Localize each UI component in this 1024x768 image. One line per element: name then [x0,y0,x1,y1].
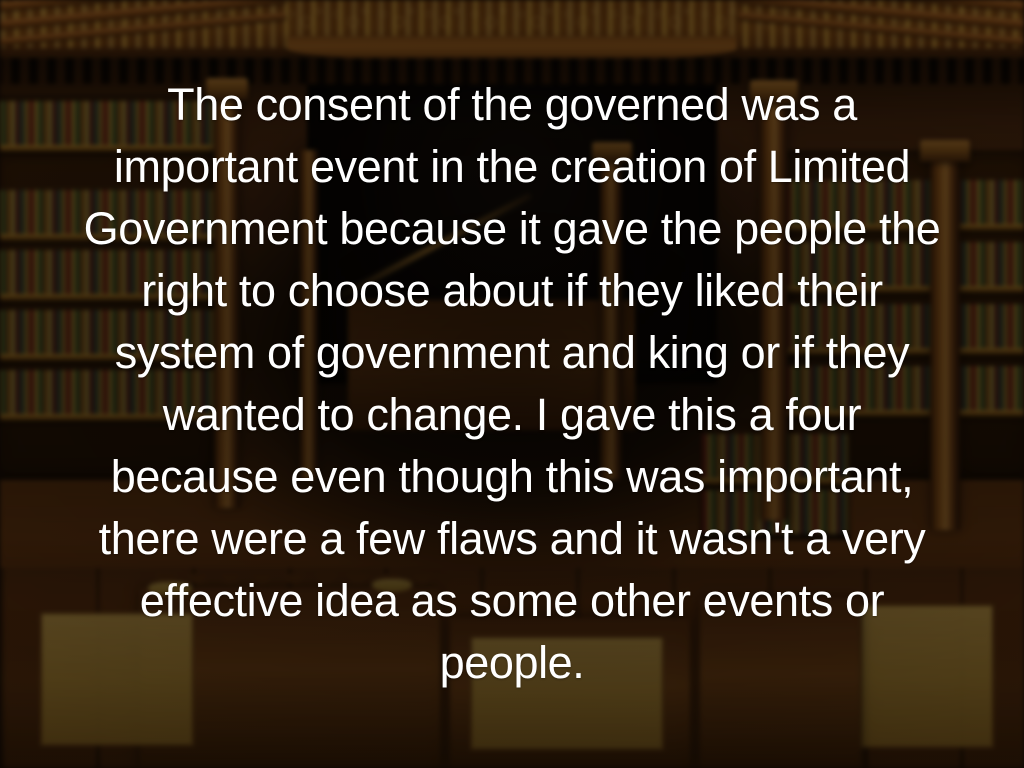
caption-line: right to choose about if they liked thei… [141,260,883,322]
slide-caption: The consent of the governed was a import… [0,0,1024,768]
presentation-slide: The consent of the governed was a import… [0,0,1024,768]
caption-line: Government because it gave the people th… [84,198,941,260]
caption-line: important event in the creation of Limit… [114,136,910,198]
caption-line: The consent of the governed was a [167,74,857,136]
caption-line: because even though this was important, [111,446,913,508]
caption-line: system of government and king or if they [115,322,909,384]
caption-line: there were a few flaws and it wasn't a v… [99,508,926,570]
caption-line: wanted to change. I gave this a four [163,384,862,446]
caption-line: effective idea as some other events or [140,570,884,632]
caption-line: people. [440,632,585,694]
